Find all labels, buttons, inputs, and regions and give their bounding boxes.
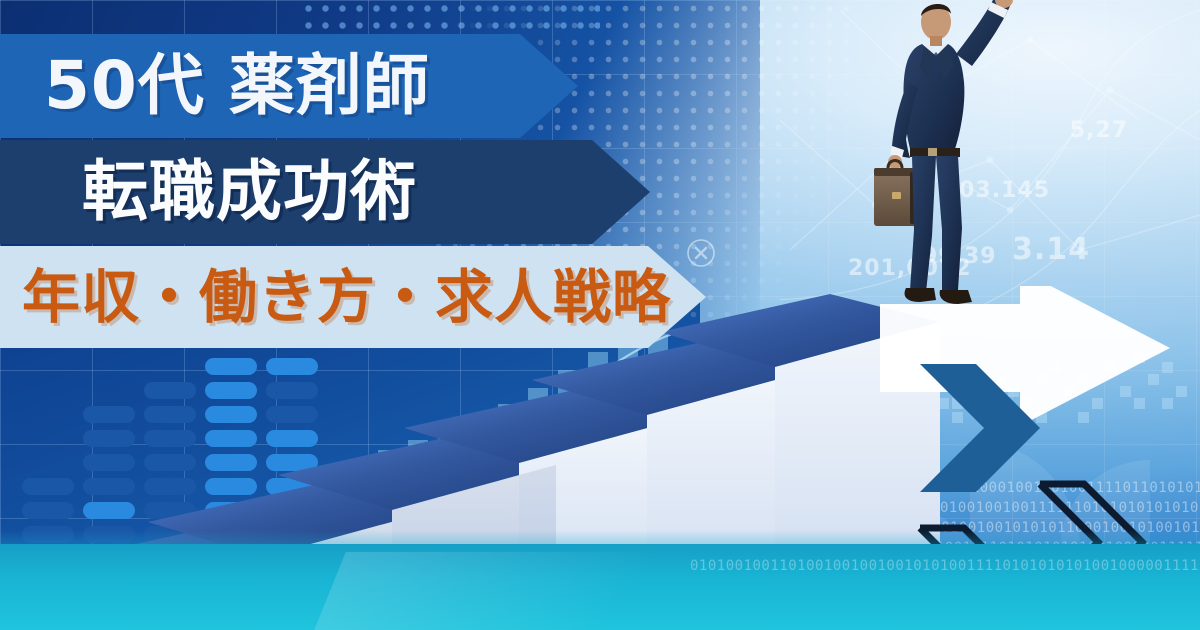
title-line-1: 50代 薬剤師 bbox=[44, 53, 430, 119]
title-band-1: 50代 薬剤師 bbox=[0, 34, 578, 138]
teal-sheen bbox=[314, 552, 766, 630]
title-line-3: 年収・働き方・求人戦略 bbox=[22, 268, 671, 326]
title-line-2: 転職成功術 bbox=[82, 159, 417, 225]
poster-canvas: 5,27 103.145 3.14 201,0072 99,39 101 bbox=[0, 0, 1200, 630]
title-band-2: 転職成功術 bbox=[0, 140, 650, 244]
businessman-figure bbox=[852, 0, 1032, 316]
title-band-3: 年収・働き方・求人戦略 bbox=[0, 246, 706, 348]
circle-x-icon bbox=[686, 238, 716, 268]
faint-number-1: 5,27 bbox=[1070, 118, 1128, 143]
